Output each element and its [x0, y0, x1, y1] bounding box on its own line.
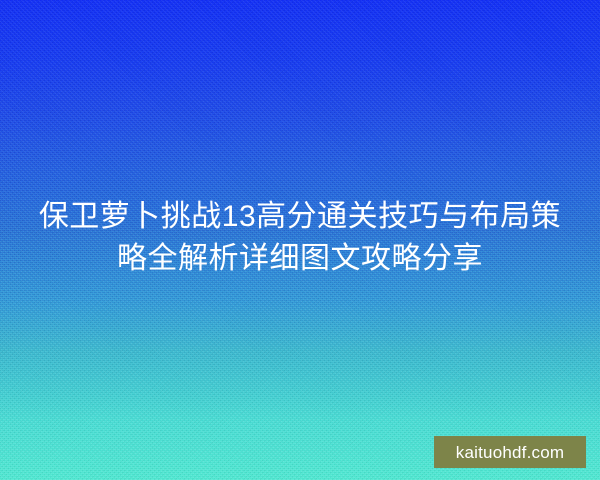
- article-cover-image: 保卫萝卜挑战13高分通关技巧与布局策 略全解析详细图文攻略分享 kaituohd…: [0, 0, 600, 480]
- title-line-2: 略全解析详细图文攻略分享: [18, 238, 582, 280]
- watermark-site-label: kaituohdf.com: [456, 444, 564, 461]
- page-title: 保卫萝卜挑战13高分通关技巧与布局策 略全解析详细图文攻略分享: [0, 196, 600, 280]
- title-line-1: 保卫萝卜挑战13高分通关技巧与布局策: [18, 196, 582, 238]
- watermark-badge: kaituohdf.com: [434, 436, 586, 468]
